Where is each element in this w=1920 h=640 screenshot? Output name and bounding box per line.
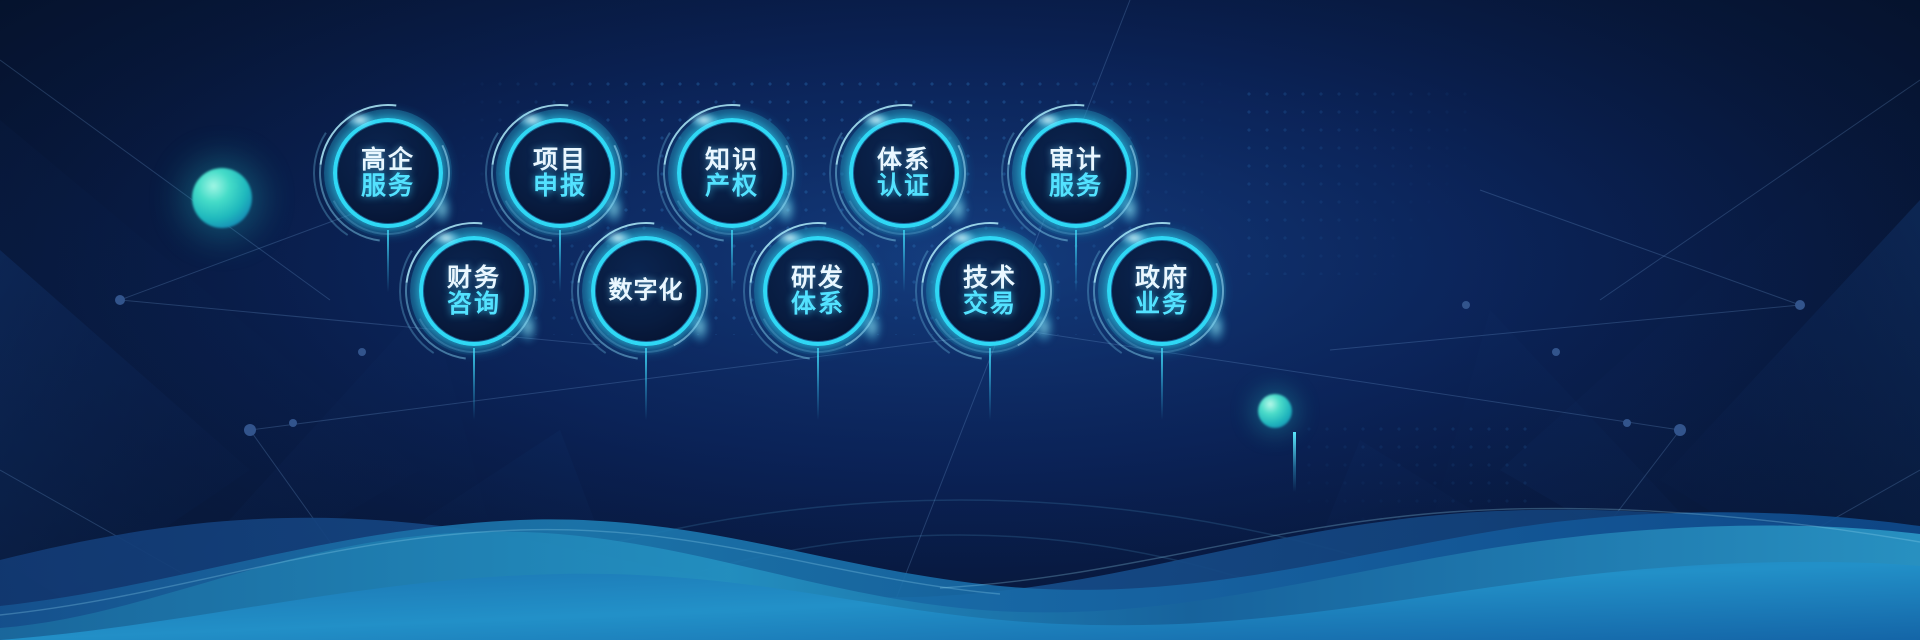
wave-band [0, 410, 1920, 640]
dot-matrix-pattern-right [1240, 85, 1470, 275]
service-badge-shenji-fuwu[interactable]: 审计服务 [1021, 118, 1131, 228]
service-badge-zhengfu-yewu[interactable]: 政府业务 [1107, 236, 1217, 346]
service-badge-label-line1: 研发 [791, 265, 845, 292]
service-badge-label: 高企服务 [361, 147, 415, 200]
badge-glint-secondary [1205, 310, 1227, 344]
badge-disc: 财务咨询 [424, 241, 524, 341]
badge-glint-secondary [517, 310, 539, 344]
banner-stage: 高企服务项目申报知识产权体系认证审计服务财务咨询数字化研发体系技术交易政府业务 [0, 0, 1920, 640]
badge-disc: 高企服务 [338, 123, 438, 223]
service-badge-xiangmu-shenbao[interactable]: 项目申报 [505, 118, 615, 228]
service-badge-label-line1: 高企 [361, 147, 415, 174]
service-badge-label-line1: 数字化 [609, 278, 684, 303]
badge-glint-secondary [861, 310, 883, 344]
service-badge-label-line2: 体系 [791, 291, 845, 318]
service-badge-label: 知识产权 [705, 147, 759, 200]
service-badge-label-line1: 项目 [533, 147, 587, 174]
service-badge-label-line2: 认证 [877, 173, 931, 200]
service-badge-label-line1: 政府 [1135, 265, 1189, 292]
service-badge-label-line1: 知识 [705, 147, 759, 174]
service-badge-tixi-renzheng[interactable]: 体系认证 [849, 118, 959, 228]
service-badge-label-line1: 技术 [963, 265, 1017, 292]
service-badge-label: 研发体系 [791, 265, 845, 318]
badge-disc: 技术交易 [940, 241, 1040, 341]
service-badge-zhishi-chanquan[interactable]: 知识产权 [677, 118, 787, 228]
service-badge-label-line2: 服务 [1049, 173, 1103, 200]
service-badge-label-line2: 申报 [533, 173, 587, 200]
service-badge-label: 项目申报 [533, 147, 587, 200]
service-badge-label-line2: 业务 [1135, 291, 1189, 318]
badge-disc: 数字化 [596, 241, 696, 341]
badge-glint-secondary [689, 310, 711, 344]
service-badge-label-line2: 产权 [705, 173, 759, 200]
service-badge-caiwu-zixun[interactable]: 财务咨询 [419, 236, 529, 346]
glowing-teal-sphere [192, 168, 252, 228]
badge-disc: 体系认证 [854, 123, 954, 223]
service-badge-label-line2: 咨询 [447, 291, 501, 318]
service-badge-label: 审计服务 [1049, 147, 1103, 200]
service-badge-label: 财务咨询 [447, 265, 501, 318]
badge-disc: 研发体系 [768, 241, 868, 341]
badge-disc: 政府业务 [1112, 241, 1212, 341]
badge-disc: 审计服务 [1026, 123, 1126, 223]
service-badge-label: 数字化 [609, 278, 684, 303]
service-badge-label: 政府业务 [1135, 265, 1189, 318]
service-badge-jishu-jiaoyi[interactable]: 技术交易 [935, 236, 1045, 346]
service-badge-yanfa-tixi[interactable]: 研发体系 [763, 236, 873, 346]
service-badge-gaoqi-fuwu[interactable]: 高企服务 [333, 118, 443, 228]
service-badge-shuzihua[interactable]: 数字化 [591, 236, 701, 346]
service-badge-label-line2: 交易 [963, 291, 1017, 318]
badge-glint-secondary [1033, 310, 1055, 344]
service-badge-label: 技术交易 [963, 265, 1017, 318]
service-badge-label: 体系认证 [877, 147, 931, 200]
badge-disc: 项目申报 [510, 123, 610, 223]
service-badge-label-line1: 体系 [877, 147, 931, 174]
badge-disc: 知识产权 [682, 123, 782, 223]
service-badge-label-line1: 财务 [447, 265, 501, 292]
service-badge-label-line2: 服务 [361, 173, 415, 200]
service-badge-label-line1: 审计 [1049, 147, 1103, 174]
